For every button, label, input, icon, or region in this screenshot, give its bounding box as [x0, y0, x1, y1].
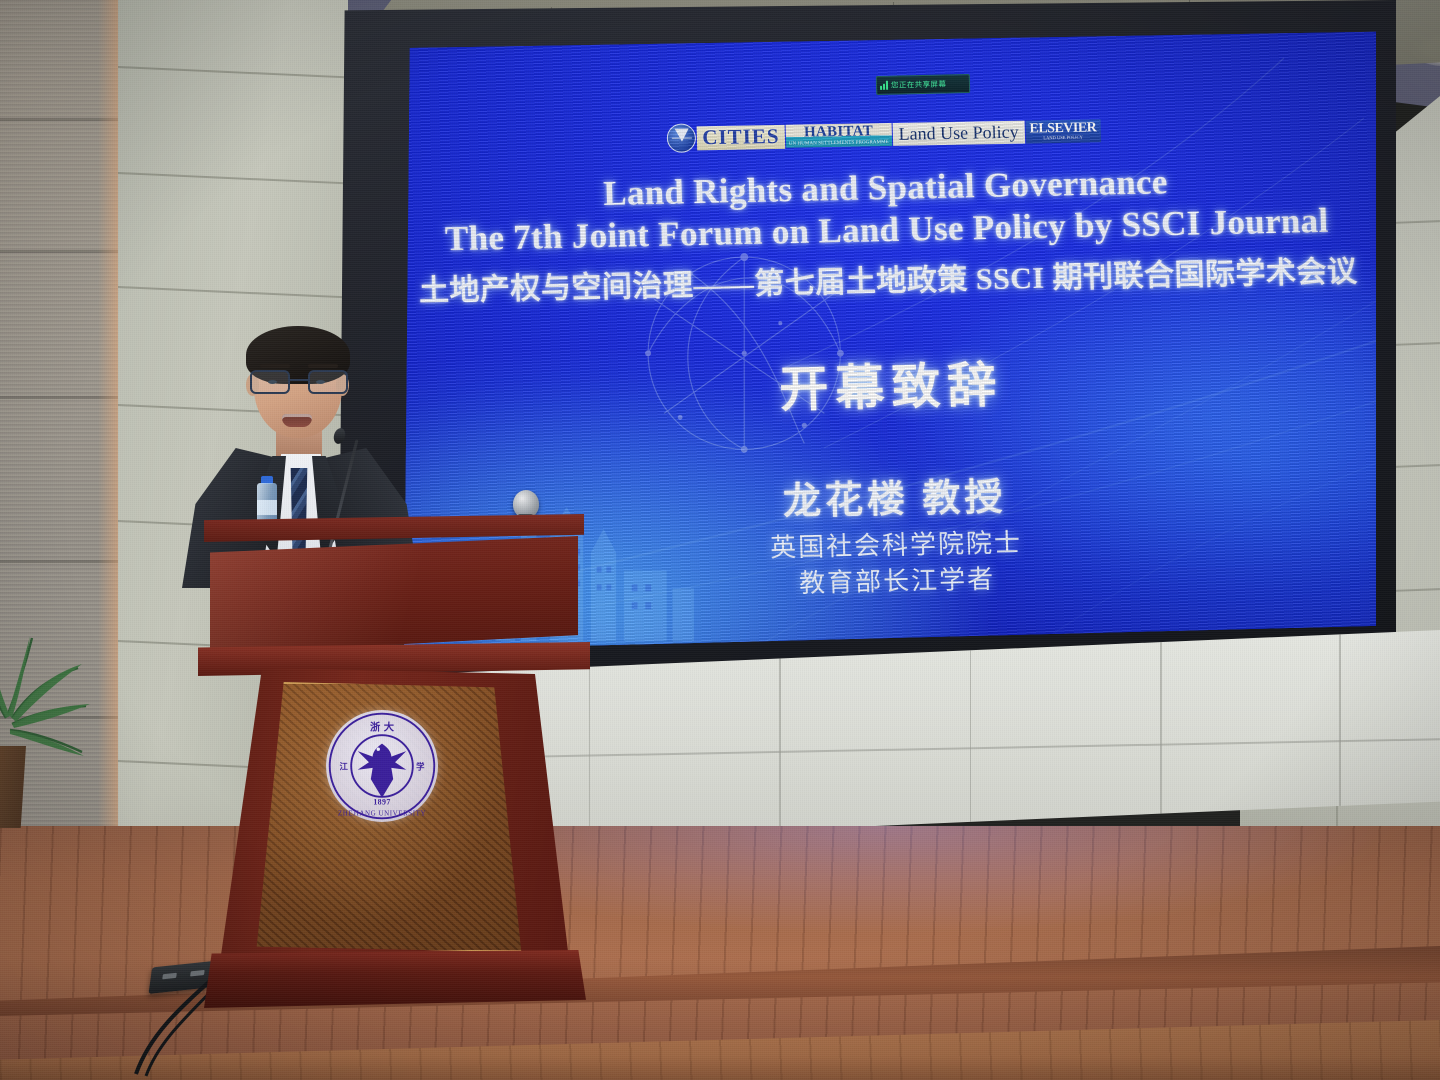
- water-bottle: [256, 476, 278, 526]
- handheld-microphone: [513, 490, 539, 518]
- svg-text:1897: 1897: [373, 797, 390, 806]
- eyebrow-right: [308, 364, 338, 368]
- un-habitat-globe-icon: [667, 123, 697, 152]
- habitat-logo-subtext: UN HUMAN SETTLEMENTS PROGRAMME: [789, 140, 889, 147]
- elsevier-logo-subtext: LAND USE POLICY: [1043, 136, 1083, 141]
- svg-text:浙 大: 浙 大: [370, 721, 395, 734]
- potted-palm-plant: [0, 598, 112, 828]
- lectern-podium: 浙 大 江 学 1897 ZHEJIANG UNIVERSITY: [176, 452, 596, 1012]
- podium-molding: [198, 642, 590, 676]
- svg-text:ZHEJIANG UNIVERSITY: ZHEJIANG UNIVERSITY: [338, 809, 426, 817]
- cities-journal-logo: CITIES: [697, 124, 785, 150]
- eyeglasses-icon: [248, 370, 352, 396]
- elsevier-publisher-logo: ELSEVIER LAND USE POLICY: [1025, 120, 1100, 144]
- podium-front-face: [210, 536, 578, 654]
- screen-share-label: 您正在共享屏幕: [891, 80, 946, 89]
- svg-text:学: 学: [416, 762, 425, 772]
- conference-logo-bar: CITIES HABITAT UN HUMAN SETTLEMENTS PROG…: [404, 112, 1370, 158]
- mouth: [282, 414, 312, 427]
- signal-bars-icon: [880, 81, 888, 90]
- slide-topic-heading: 开幕致辞: [404, 338, 1376, 429]
- conference-photo: CITIES HABITAT UN HUMAN SETTLEMENTS PROG…: [0, 0, 1440, 1080]
- land-use-policy-logo: Land Use Policy: [892, 121, 1025, 146]
- habitat-international-logo: HABITAT UN HUMAN SETTLEMENTS PROGRAMME: [785, 123, 892, 148]
- podium-base: [204, 950, 586, 1008]
- phoenix-emblem-icon: 浙 大 江 学 1897 ZHEJIANG UNIVERSITY: [326, 710, 438, 822]
- screen-share-indicator[interactable]: 您正在共享屏幕: [876, 74, 970, 95]
- eyebrow-left: [260, 364, 290, 368]
- svg-text:江: 江: [340, 762, 349, 772]
- habitat-logo-text: HABITAT: [804, 124, 873, 141]
- zhejiang-university-emblem: 浙 大 江 学 1897 ZHEJIANG UNIVERSITY: [326, 710, 438, 822]
